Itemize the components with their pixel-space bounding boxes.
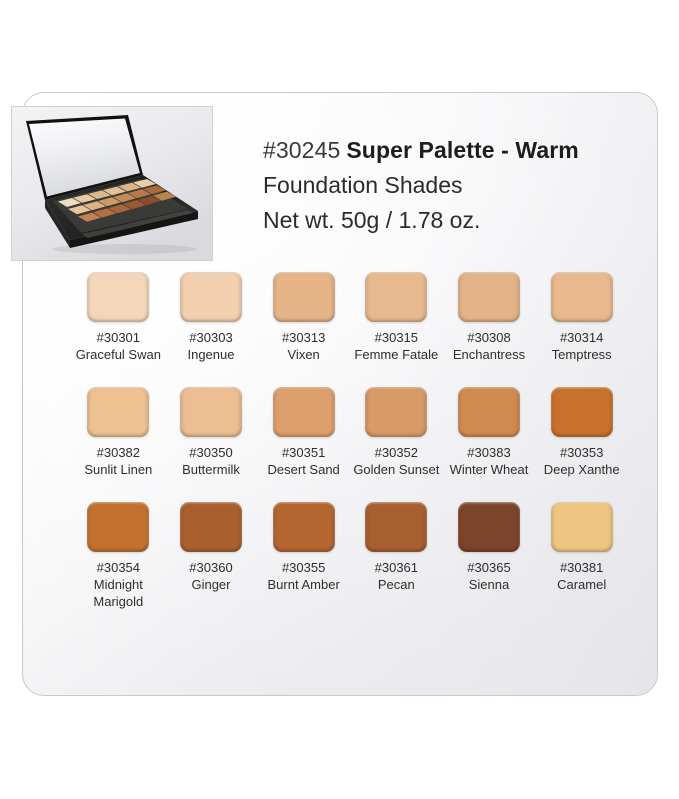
shade-name: Winter Wheat	[450, 461, 529, 478]
open-palette-illustration	[12, 107, 212, 260]
shade-color-chip[interactable]	[273, 387, 335, 437]
shade-name: Midnight Marigold	[72, 576, 164, 610]
net-weight: Net wt. 50g / 1.78 oz.	[263, 203, 623, 238]
header-block: #30245Super Palette - Warm Foundation Sh…	[263, 133, 623, 238]
shade-code: #30383	[467, 444, 510, 461]
product-name: Super Palette - Warm	[346, 137, 578, 163]
shade-name: Golden Sunset	[353, 461, 439, 478]
shade-color-chip[interactable]	[458, 272, 520, 322]
shade-swatch-grid: #30301Graceful Swan#30303Ingenue#30313Vi…	[72, 272, 628, 610]
product-subtitle: Foundation Shades	[263, 168, 623, 203]
shade-name: Burnt Amber	[268, 576, 340, 593]
shade-color-chip[interactable]	[87, 502, 149, 552]
shade-swatch-cell[interactable]: #30382Sunlit Linen	[72, 387, 165, 478]
shade-code: #30355	[282, 559, 325, 576]
shade-swatch-cell[interactable]: #30353Deep Xanthe	[535, 387, 628, 478]
shade-name: Sienna	[469, 576, 509, 593]
shade-name: Femme Fatale	[354, 346, 438, 363]
shade-name: Vixen	[288, 346, 320, 363]
shade-swatch-cell[interactable]: #30350Buttermilk	[165, 387, 258, 478]
shade-code: #30303	[189, 329, 232, 346]
shade-swatch-cell[interactable]: #30303Ingenue	[165, 272, 258, 363]
shade-color-chip[interactable]	[551, 272, 613, 322]
shade-swatch-cell[interactable]: #30361Pecan	[350, 502, 443, 610]
shade-color-chip[interactable]	[273, 502, 335, 552]
shade-name: Ingenue	[187, 346, 234, 363]
shade-swatch-cell[interactable]: #30355Burnt Amber	[257, 502, 350, 610]
shade-color-chip[interactable]	[551, 387, 613, 437]
shade-name: Temptress	[552, 346, 612, 363]
shade-swatch-cell[interactable]: #30381Caramel	[535, 502, 628, 610]
shade-swatch-cell[interactable]: #30365Sienna	[443, 502, 536, 610]
shade-name: Ginger	[191, 576, 230, 593]
shade-code: #30313	[282, 329, 325, 346]
shade-code: #30382	[97, 444, 140, 461]
shade-color-chip[interactable]	[87, 387, 149, 437]
shade-swatch-cell[interactable]: #30351Desert Sand	[257, 387, 350, 478]
shade-swatch-cell[interactable]: #30315Femme Fatale	[350, 272, 443, 363]
shade-code: #30352	[375, 444, 418, 461]
shade-name: Graceful Swan	[76, 346, 161, 363]
shade-color-chip[interactable]	[365, 387, 427, 437]
shade-name: Sunlit Linen	[84, 461, 152, 478]
shade-code: #30314	[560, 329, 603, 346]
shade-code: #30365	[467, 559, 510, 576]
shade-color-chip[interactable]	[180, 387, 242, 437]
page-title: #30245Super Palette - Warm	[263, 133, 623, 168]
shade-code: #30381	[560, 559, 603, 576]
shade-swatch-cell[interactable]: #30314Temptress	[535, 272, 628, 363]
shade-color-chip[interactable]	[180, 272, 242, 322]
shade-color-chip[interactable]	[551, 502, 613, 552]
shade-name: Enchantress	[453, 346, 525, 363]
shade-code: #30353	[560, 444, 603, 461]
shade-code: #30308	[467, 329, 510, 346]
shade-color-chip[interactable]	[458, 387, 520, 437]
shade-name: Deep Xanthe	[544, 461, 620, 478]
shade-color-chip[interactable]	[365, 272, 427, 322]
shade-swatch-cell[interactable]: #30360Ginger	[165, 502, 258, 610]
palette-product-photo	[11, 106, 213, 261]
shade-color-chip[interactable]	[87, 272, 149, 322]
shade-code: #30301	[97, 329, 140, 346]
shade-color-chip[interactable]	[458, 502, 520, 552]
shade-code: #30351	[282, 444, 325, 461]
shade-name: Caramel	[557, 576, 606, 593]
shade-code: #30354	[97, 559, 140, 576]
product-sku: #30245	[263, 137, 340, 163]
shade-swatch-cell[interactable]: #30313Vixen	[257, 272, 350, 363]
shade-code: #30360	[189, 559, 232, 576]
shade-color-chip[interactable]	[365, 502, 427, 552]
shade-code: #30315	[375, 329, 418, 346]
shade-code: #30350	[189, 444, 232, 461]
shade-name: Desert Sand	[268, 461, 340, 478]
shade-swatch-cell[interactable]: #30352Golden Sunset	[350, 387, 443, 478]
shade-swatch-cell[interactable]: #30354Midnight Marigold	[72, 502, 165, 610]
shade-swatch-cell[interactable]: #30308Enchantress	[443, 272, 536, 363]
shade-name: Buttermilk	[182, 461, 240, 478]
shade-swatch-cell[interactable]: #30383Winter Wheat	[443, 387, 536, 478]
shade-code: #30361	[375, 559, 418, 576]
shade-swatch-cell[interactable]: #30301Graceful Swan	[72, 272, 165, 363]
shade-name: Pecan	[378, 576, 415, 593]
shade-color-chip[interactable]	[180, 502, 242, 552]
shade-color-chip[interactable]	[273, 272, 335, 322]
